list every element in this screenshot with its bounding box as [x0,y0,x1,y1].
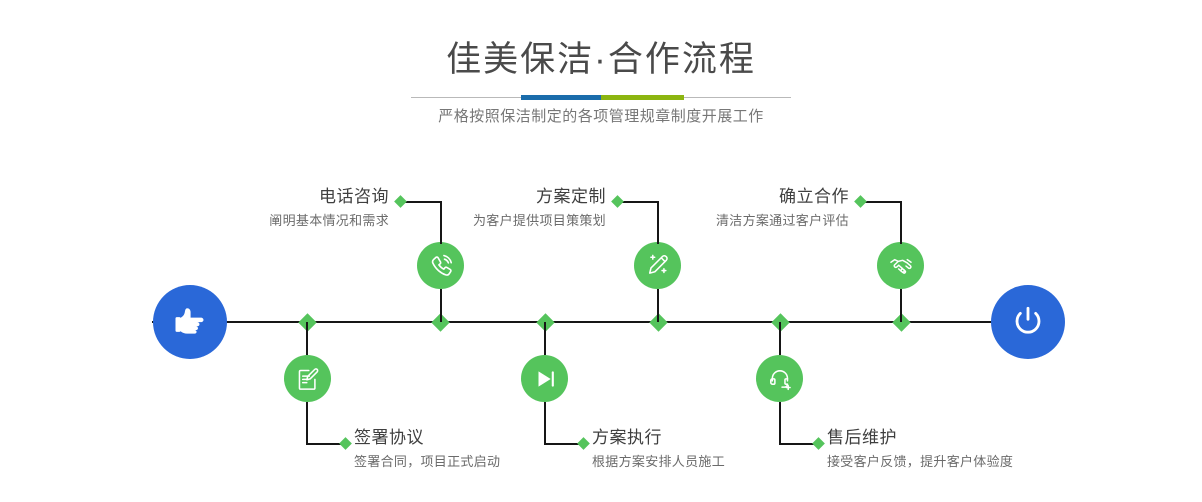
label-subtitle-step-1: 签署合同，项目正式启动 [354,452,500,472]
label-title-step-1: 签署协议 [354,427,500,449]
connector-step-2-stem [440,289,442,322]
headset-support-icon [767,366,793,392]
connector-step-4-stem [657,289,659,322]
timeline-end-node[interactable] [991,285,1065,359]
process-flow-infographic: 佳美保洁·合作流程 严格按照保洁制定的各项管理规章制度开展工作 [0,0,1202,502]
pencil-design-icon [645,253,671,279]
connector-step-3-elbow-v [544,402,546,444]
node-icon-step-5[interactable] [756,355,803,402]
timeline-start-node[interactable] [153,285,227,359]
connector-step-1-stem [306,322,308,355]
document-edit-icon [295,366,321,392]
label-title-step-3: 方案执行 [592,427,725,449]
node-icon-step-4[interactable] [634,242,681,289]
label-subtitle-step-3: 根据方案安排人员施工 [592,452,725,472]
connector-step-3-stem [544,322,546,355]
play-skip-icon [532,366,558,392]
power-icon [1008,302,1048,342]
connector-step-5-stem [779,322,781,355]
connector-step-5-elbow-v [779,402,781,444]
label-subtitle-step-6: 清洁方案通过客户评估 [459,211,849,231]
label-marker-step-6 [854,195,867,208]
label-step-6: 确立合作 清洁方案通过客户评估 [459,186,849,231]
label-step-5: 售后维护 接受客户反馈，提升客户体验度 [827,427,1013,472]
node-icon-step-3[interactable] [521,355,568,402]
timeline-axis [152,321,1050,323]
connector-step-6-elbow-h [863,201,902,203]
label-marker-step-1 [339,437,352,450]
phone-call-icon [428,253,454,279]
connector-step-6-stem [900,289,902,322]
label-title-step-6: 确立合作 [459,186,849,208]
label-subtitle-step-5: 接受客户反馈，提升客户体验度 [827,452,1013,472]
label-marker-step-5 [812,437,825,450]
timeline: 签署协议 签署合同，项目正式启动 电话咨询 阐明基本情况和需求 [0,0,1202,502]
label-step-3: 方案执行 根据方案安排人员施工 [592,427,725,472]
node-icon-step-6[interactable] [877,242,924,289]
label-title-step-5: 售后维护 [827,427,1013,449]
label-marker-step-3 [577,437,590,450]
handshake-icon [888,253,914,279]
connector-step-6-elbow-v [900,202,902,244]
node-icon-step-2[interactable] [417,242,464,289]
label-step-1: 签署协议 签署合同，项目正式启动 [354,427,500,472]
node-icon-step-1[interactable] [284,355,331,402]
connector-step-1-elbow-v [306,402,308,444]
pointing-hand-icon [170,302,210,342]
